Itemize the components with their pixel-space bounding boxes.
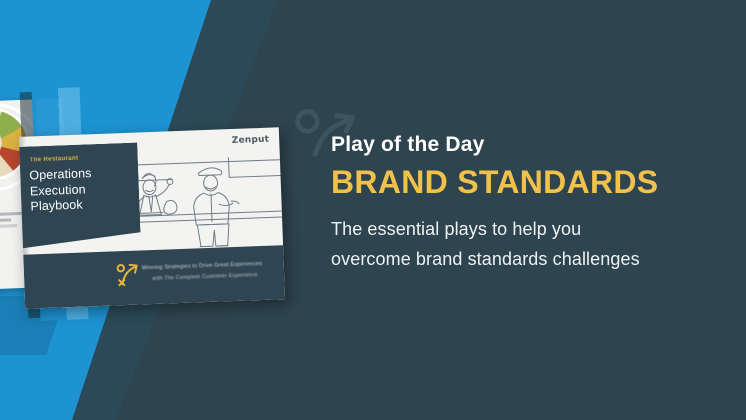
promo-banner: Zenput <box>0 0 746 420</box>
ebook-artwork: Zenput <box>0 96 300 326</box>
cover-footer-line-1: Winning Strategies to Drive Great Experi… <box>142 261 274 272</box>
ebook-cover: Zenput <box>19 127 285 308</box>
cover-footer-line-2: with The Complete Customer Experience <box>152 272 274 282</box>
subtitle-line-2: overcome brand standards challenges <box>331 244 727 274</box>
kicker-text: Play of the Day <box>331 132 731 158</box>
page-title: BRAND STANDARDS <box>331 164 731 200</box>
cover-title: Operations Execution Playbook <box>29 165 136 215</box>
cover-footer: Winning Strategies to Drive Great Experi… <box>23 245 285 308</box>
promo-copy: Play of the Day BRAND STANDARDS The esse… <box>331 132 731 274</box>
placeholder-text-line <box>0 224 17 229</box>
cover-title-panel: The Restaurant Operations Execution Play… <box>19 142 141 248</box>
play-diagram-icon <box>116 263 139 288</box>
subtitle-line-1: The essential plays to help you <box>331 214 727 244</box>
placeholder-text-line <box>0 212 23 217</box>
zenput-logo: Zenput <box>232 135 270 146</box>
cover-title-line-3: Playbook <box>30 196 135 215</box>
cover-eyebrow: The Restaurant <box>30 156 79 164</box>
placeholder-text-line <box>0 218 11 222</box>
